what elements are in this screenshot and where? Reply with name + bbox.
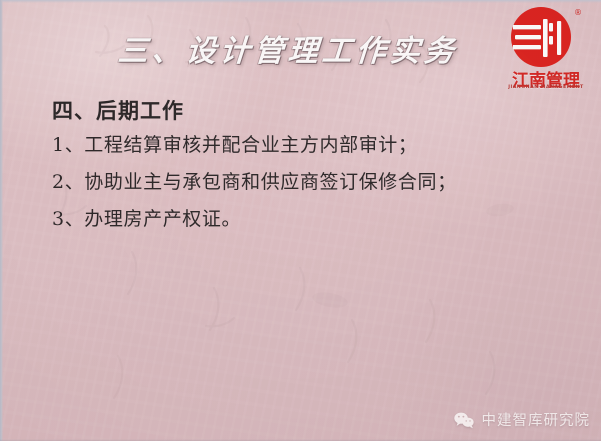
wechat-icon	[453, 411, 475, 429]
watermark-text: 中建智库研究院	[482, 409, 591, 430]
slide-title: 三、设计管理工作实务	[118, 22, 488, 74]
list-item: 2、协助业主与承包商和供应商签订保修合同；	[52, 173, 552, 192]
registered-trademark-icon: ®	[574, 9, 582, 17]
slide-edge-top	[0, 0, 601, 3]
channel-watermark: 中建智库研究院	[453, 409, 591, 430]
list-item: 3、办理房产产权证。	[52, 210, 552, 229]
jiangnan-circle-logo-icon	[510, 6, 572, 68]
slide-title-text: 三、设计管理工作实务	[116, 26, 459, 70]
slide-edge-left	[0, 0, 3, 441]
slide-body: 四、后期工作 1、工程结算审核并配合业主方内部审计； 2、协助业主与承包商和供应…	[52, 98, 552, 247]
presentation-slide: 三、设计管理工作实务 ® 江南管理 JIANGNAN MANAGEMENT 四、…	[0, 0, 601, 441]
logo-name-en: JIANGNAN MANAGEMENT	[501, 85, 591, 90]
list-item: 1、工程结算审核并配合业主方内部审计；	[52, 136, 552, 155]
section-heading: 四、后期工作	[52, 98, 552, 124]
company-logo: ® 江南管理 JIANGNAN MANAGEMENT	[502, 6, 590, 98]
